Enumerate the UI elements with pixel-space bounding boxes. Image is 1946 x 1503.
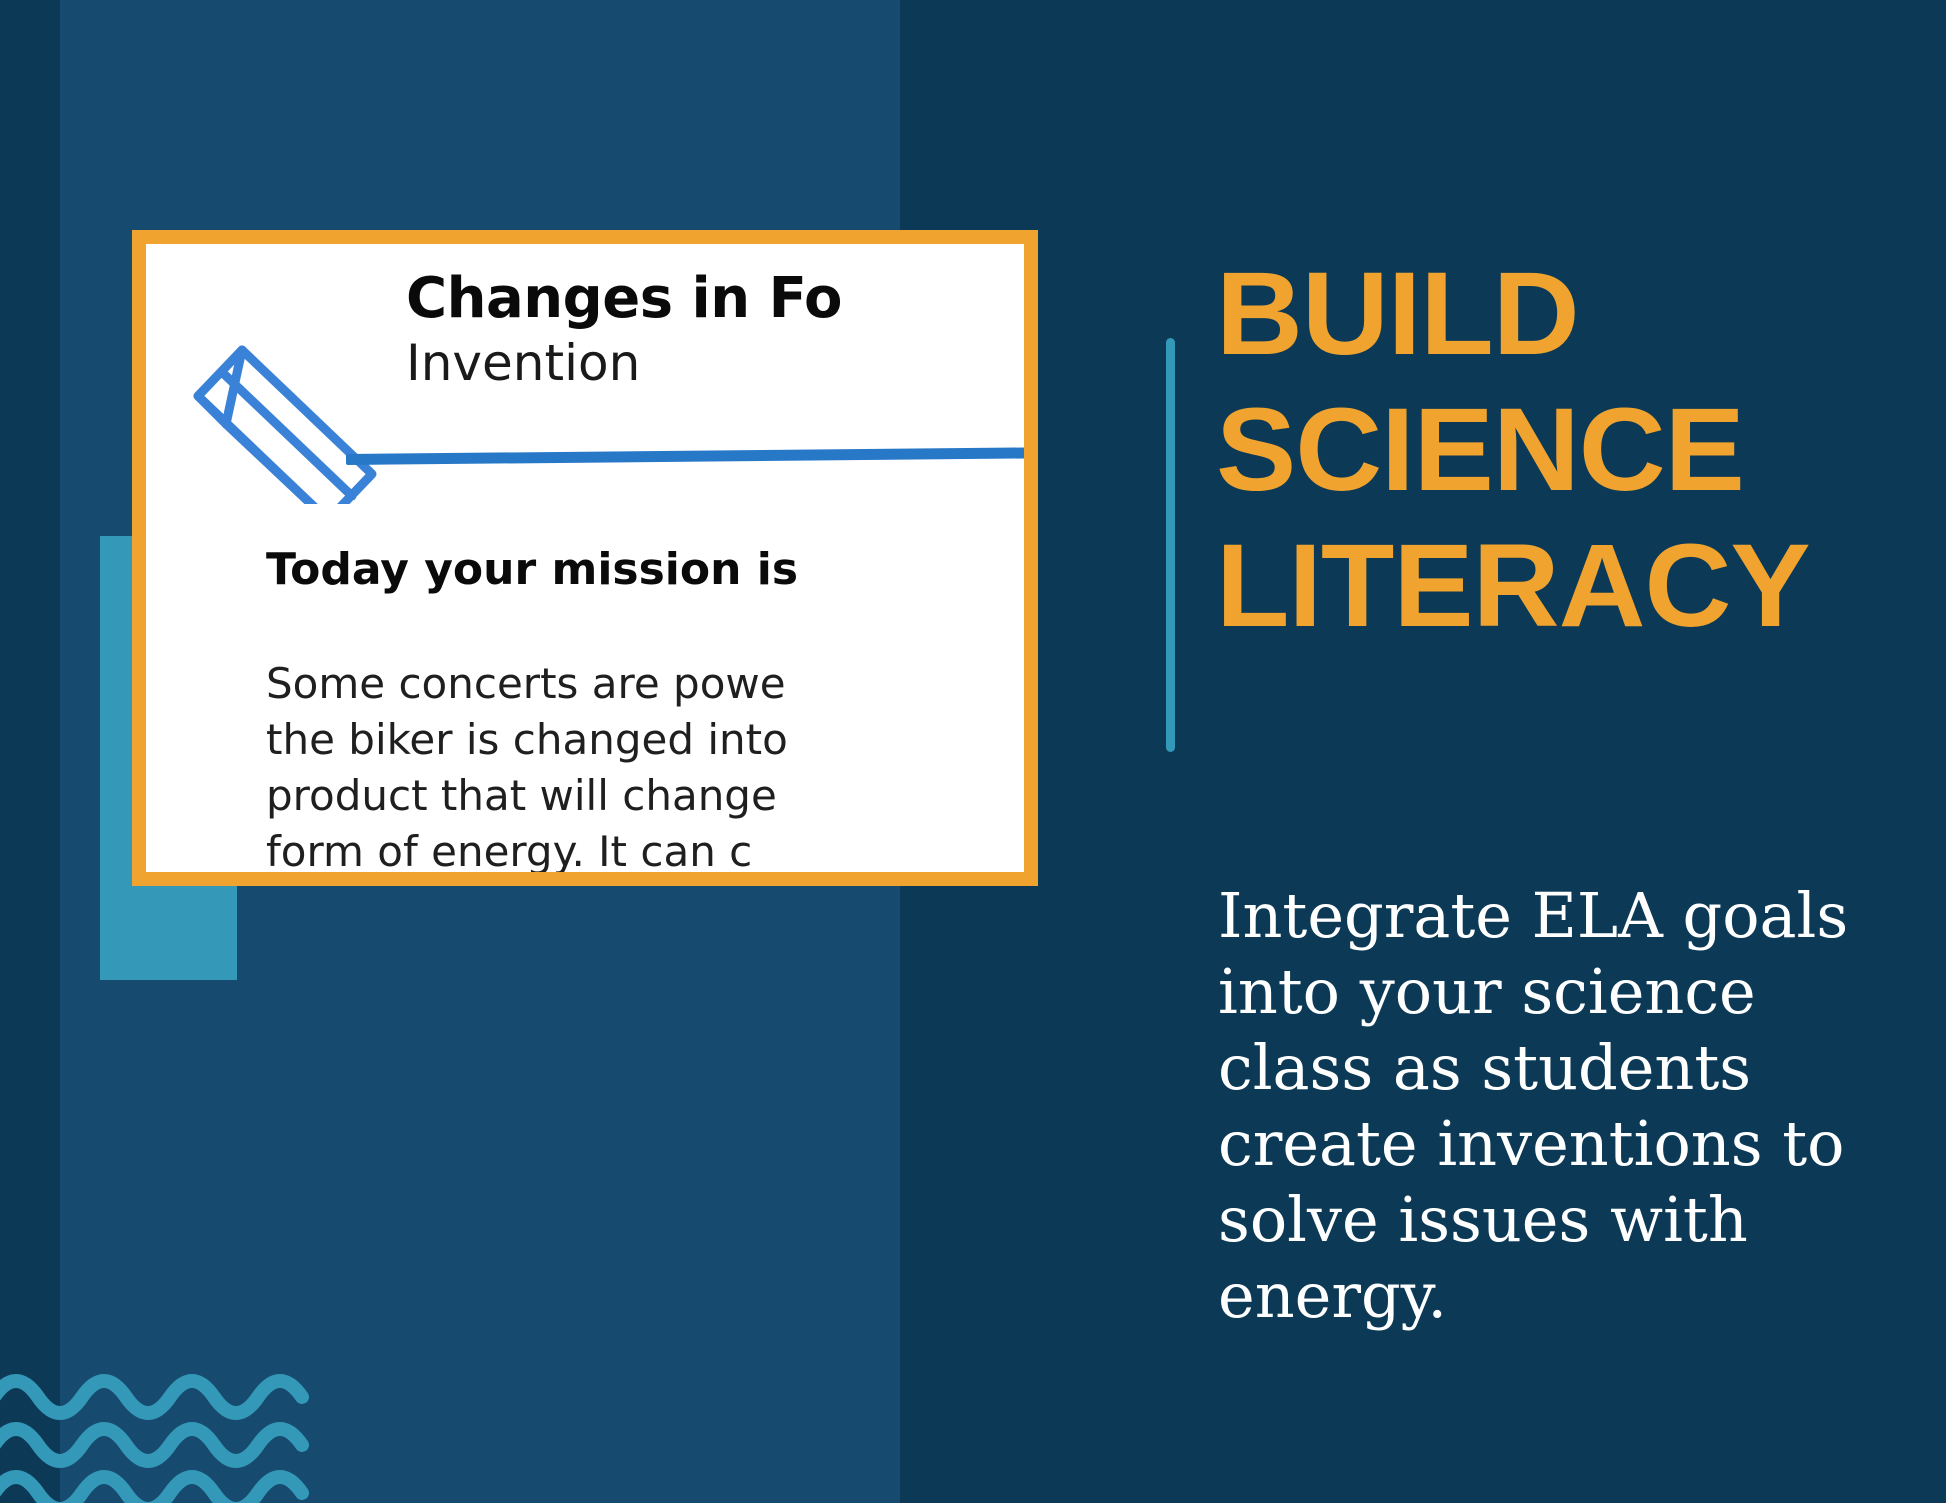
headline-line-1: BUILD	[1216, 246, 1930, 382]
worksheet-paragraph-line: the biker is changed into	[266, 712, 788, 768]
pencil-icon	[176, 324, 386, 504]
worksheet-image-card[interactable]: Changes in Fo Invention Today your missi…	[132, 230, 1038, 886]
body-copy: Integrate ELA goals into your science cl…	[1218, 878, 1878, 1334]
worksheet-blue-rule	[346, 447, 1024, 465]
worksheet-paragraph-line: product that will change	[266, 768, 788, 824]
worksheet-subtitle: Invention	[406, 334, 640, 392]
headline-line-2: SCIENCE	[1216, 382, 1930, 518]
headline: BUILD SCIENCE LITERACY	[1216, 246, 1916, 654]
poster-canvas: Changes in Fo Invention Today your missi…	[0, 0, 1946, 1503]
headline-line-3: LITERACY	[1216, 518, 1930, 654]
worksheet-paragraph-line: form of energy. It can c	[266, 824, 788, 872]
teal-vertical-rule	[1166, 338, 1175, 752]
wave-pattern	[0, 1363, 324, 1503]
worksheet-paragraph-line: Some concerts are powe	[266, 656, 788, 712]
wave-row-3	[0, 1477, 302, 1503]
worksheet-content: Changes in Fo Invention Today your missi…	[146, 244, 1024, 872]
worksheet-title: Changes in Fo	[406, 266, 842, 331]
worksheet-image: Changes in Fo Invention Today your missi…	[146, 244, 1024, 872]
worksheet-mission-heading: Today your mission is	[266, 544, 798, 595]
worksheet-paragraph: Some concerts are powe the biker is chan…	[266, 656, 788, 872]
wave-row-2	[0, 1429, 302, 1461]
wave-row-1	[0, 1381, 302, 1413]
